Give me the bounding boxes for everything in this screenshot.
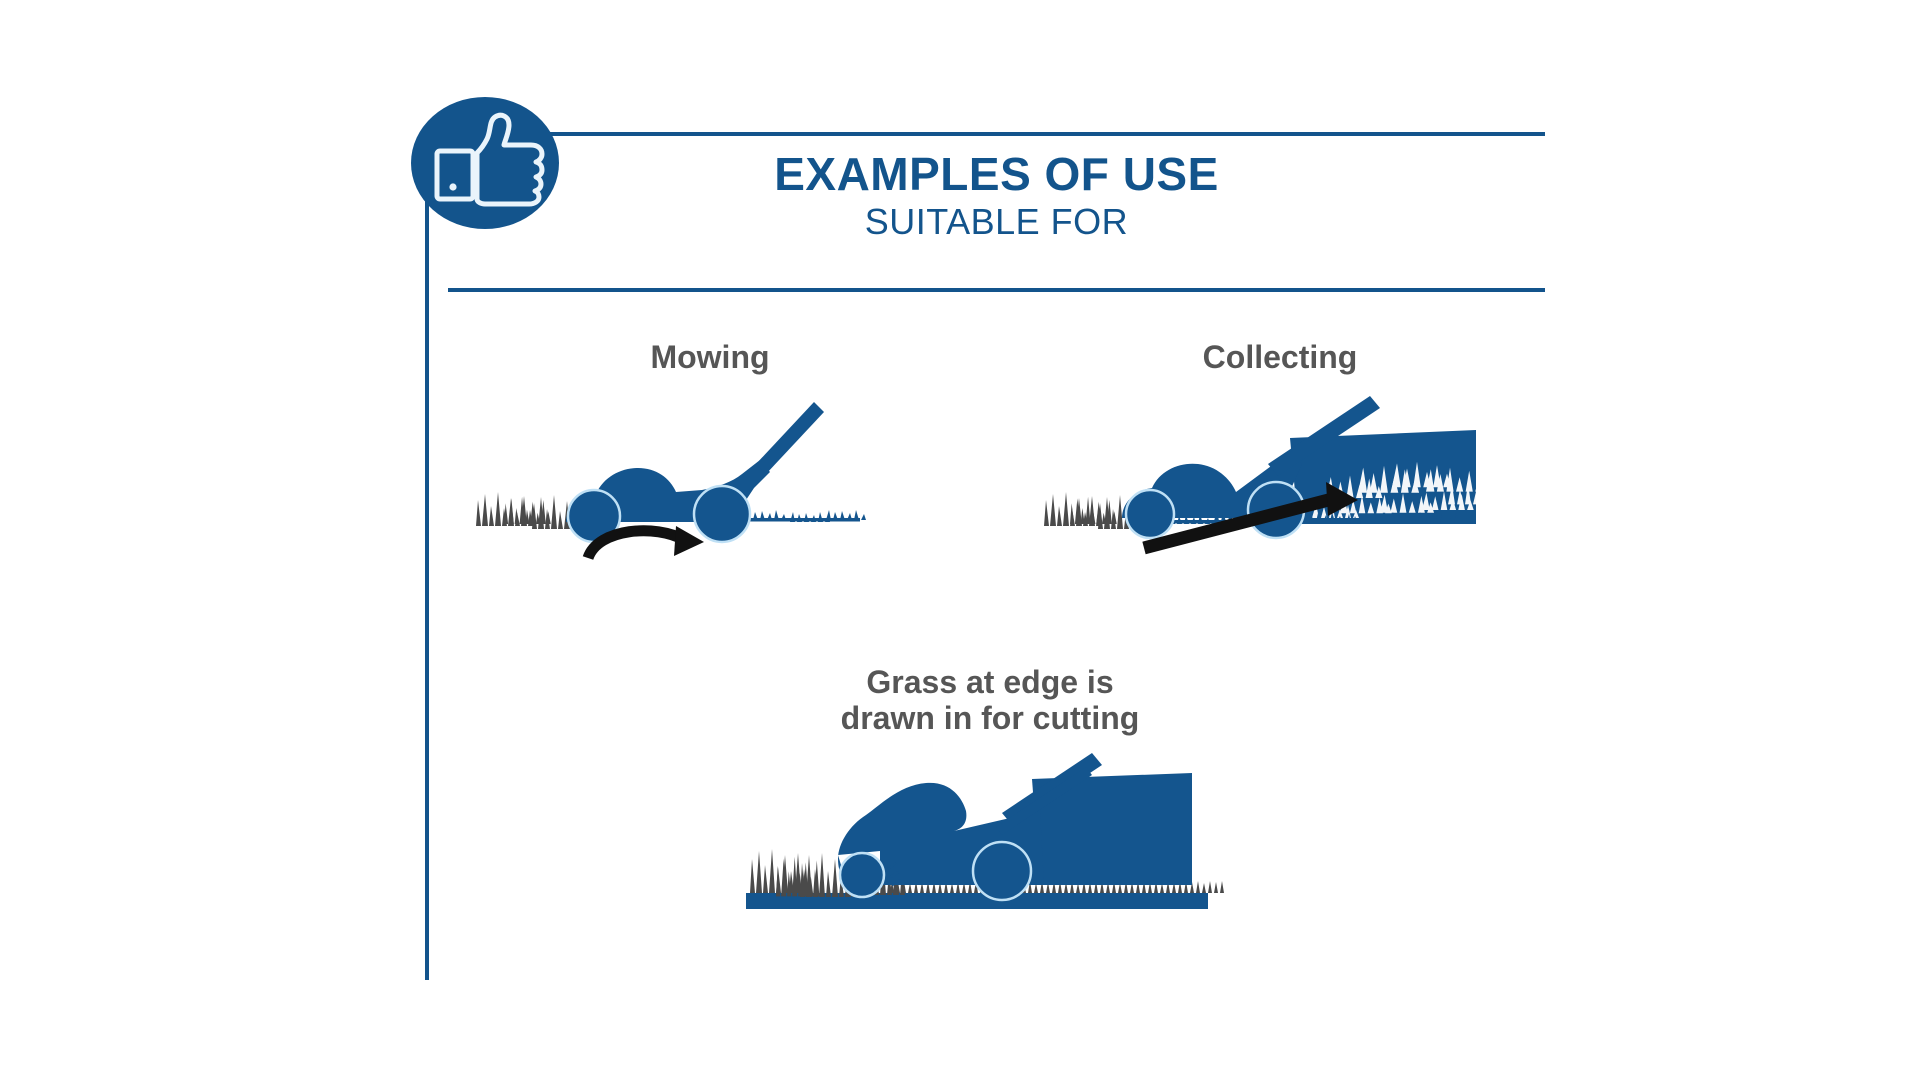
lawn-mower-collecting-illustration <box>1040 390 1520 570</box>
example-label-mowing: Mowing <box>470 340 950 376</box>
thumbs-up-icon <box>405 95 565 235</box>
header-title-block: EXAMPLES OF USE SUITABLE FOR <box>448 150 1545 242</box>
example-collecting: Collecting <box>1040 340 1520 570</box>
left-spine-divider <box>425 150 429 980</box>
illustration-page: EXAMPLES OF USE SUITABLE FOR Mowing <box>0 0 1920 1080</box>
lawn-mower-edge-cutting-illustration <box>740 751 1240 931</box>
example-mowing: Mowing <box>470 340 950 570</box>
header-rule-bottom <box>448 288 1545 292</box>
example-label-edge-cutting: Grass at edge is drawn in for cutting <box>740 665 1240 737</box>
lawn-mower-mowing-illustration <box>470 390 950 570</box>
example-label-collecting: Collecting <box>1040 340 1520 376</box>
header-rule-top <box>448 132 1545 136</box>
example-edge-cutting: Grass at edge is drawn in for cutting <box>740 665 1240 931</box>
page-title: EXAMPLES OF USE <box>448 150 1545 198</box>
page-subtitle: SUITABLE FOR <box>448 202 1545 242</box>
